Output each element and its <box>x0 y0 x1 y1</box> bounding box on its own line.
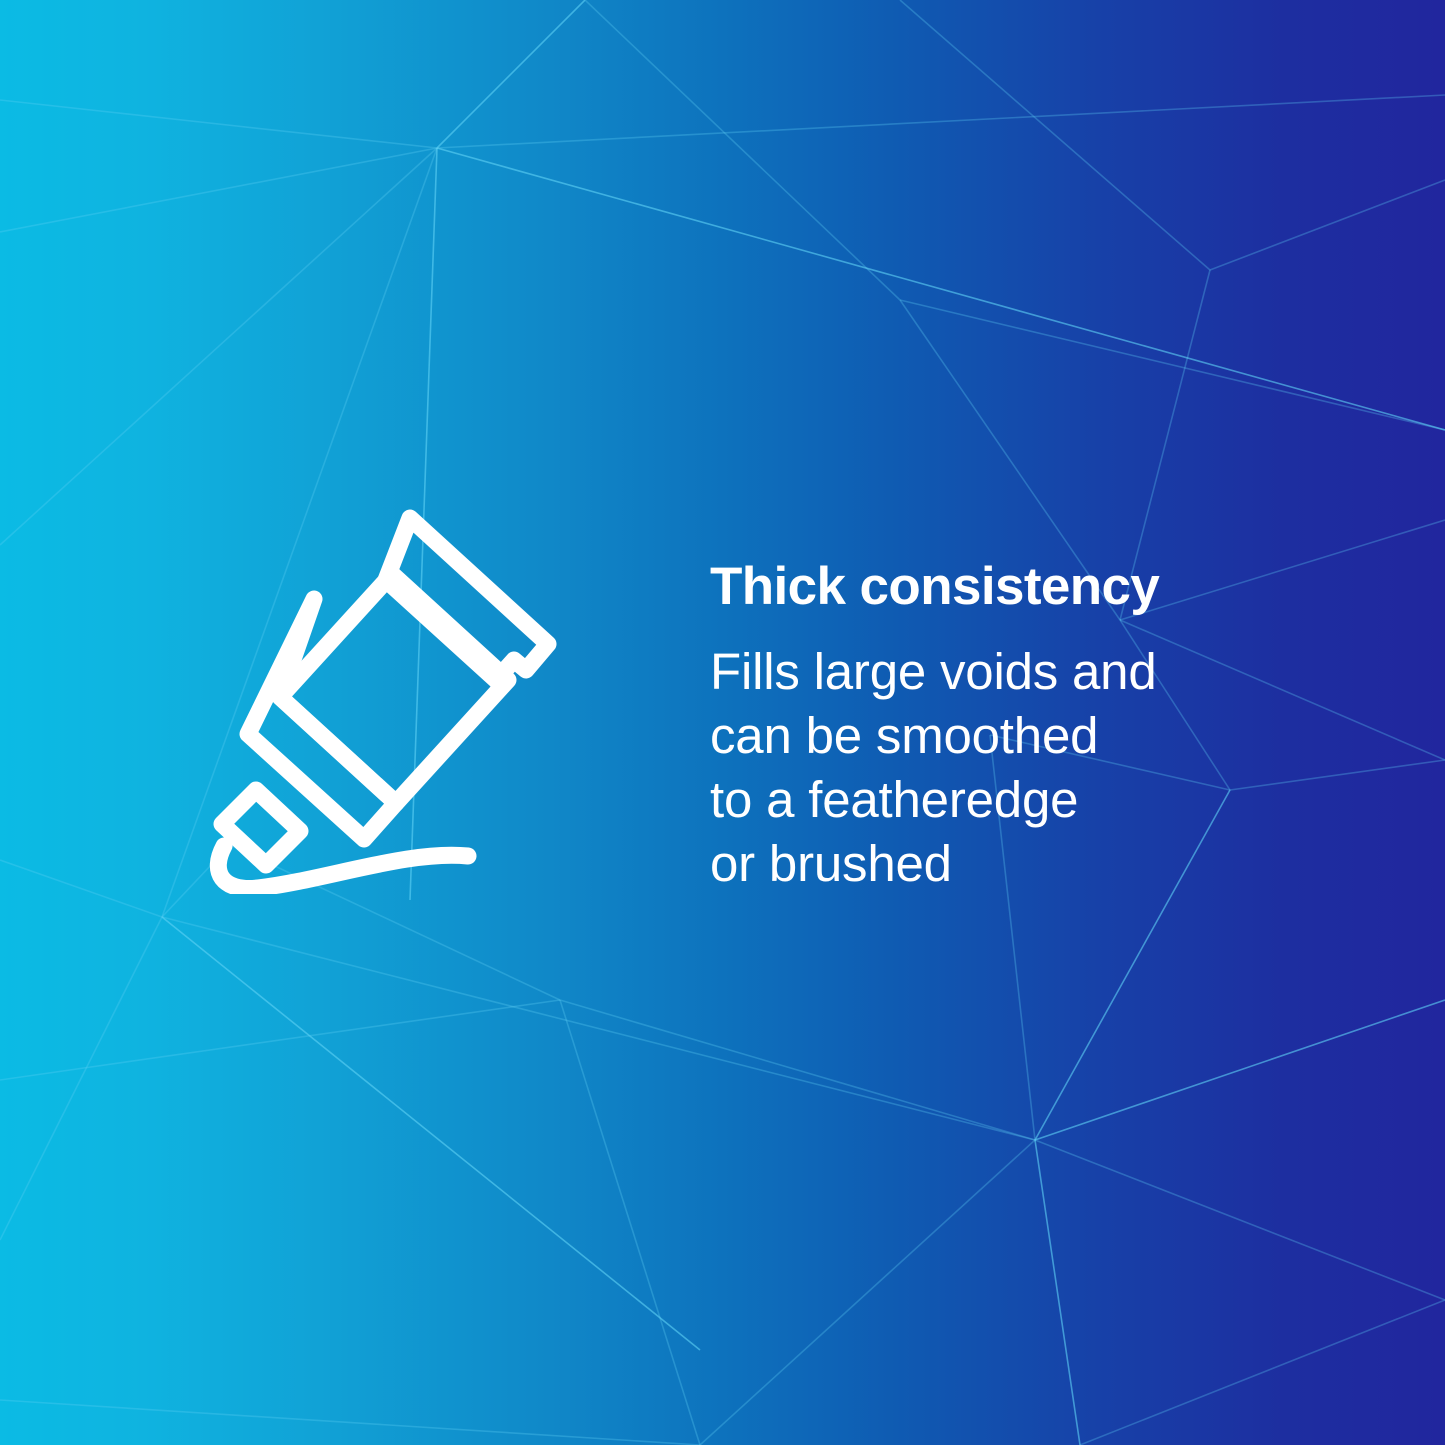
feature-heading: Thick consistency <box>710 556 1330 618</box>
description-line: or brushed <box>710 832 1330 896</box>
feature-text-block: Thick consistency Fills large voids and … <box>710 556 1330 896</box>
description-line: can be smoothed <box>710 704 1330 768</box>
feature-description: Fills large voids and can be smoothed to… <box>710 640 1330 896</box>
description-line: to a featheredge <box>710 768 1330 832</box>
squeeze-tube-dispensing-icon <box>196 494 568 894</box>
description-line: Fills large voids and <box>710 640 1330 704</box>
feature-callout-graphic: Thick consistency Fills large voids and … <box>0 0 1445 1445</box>
